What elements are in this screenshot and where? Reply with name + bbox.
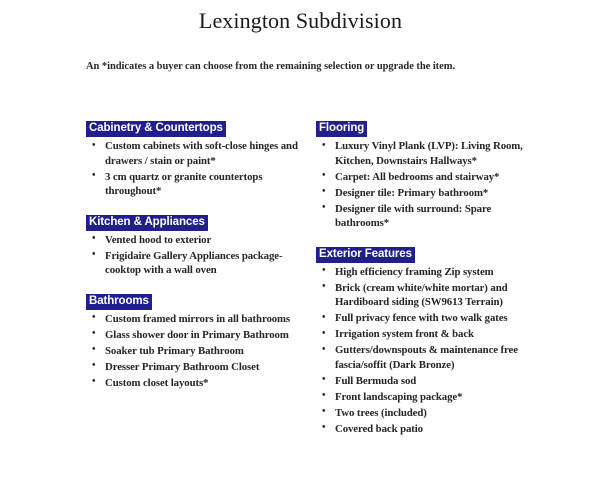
feature-list-cabinetry-countertops: Custom cabinets with soft-close hinges a… <box>86 139 301 199</box>
list-item: Front landscaping package* <box>316 390 531 405</box>
section-heading-bathrooms: Bathrooms <box>86 294 152 310</box>
page-title: Lexington Subdivision <box>0 8 601 34</box>
section-heading-exterior-features: Exterior Features <box>316 247 415 263</box>
section-bathrooms: BathroomsCustom framed mirrors in all ba… <box>86 291 301 391</box>
feature-list-flooring: Luxury Vinyl Plank (LVP): Living Room, K… <box>316 139 531 231</box>
section-heading-cabinetry-countertops: Cabinetry & Countertops <box>86 121 226 137</box>
list-item: Custom cabinets with soft-close hinges a… <box>86 139 301 168</box>
section-kitchen-appliances: Kitchen & AppliancesVented hood to exter… <box>86 212 301 278</box>
section-cabinetry-countertops: Cabinetry & CountertopsCustom cabinets w… <box>86 118 301 199</box>
left-column: Cabinetry & CountertopsCustom cabinets w… <box>86 118 301 392</box>
list-item: Frigidaire Gallery Appliances package-co… <box>86 249 301 278</box>
list-item: 3 cm quartz or granite countertops throu… <box>86 170 301 199</box>
list-item: Designer tile with surround: Spare bathr… <box>316 202 531 231</box>
list-item: Vented hood to exterior <box>86 233 301 248</box>
list-item: Two trees (included) <box>316 406 531 421</box>
section-flooring: FlooringLuxury Vinyl Plank (LVP): Living… <box>316 118 531 231</box>
list-item: Brick (cream white/white mortar) and Har… <box>316 281 531 310</box>
section-exterior-features: Exterior FeaturesHigh efficiency framing… <box>316 244 531 437</box>
section-heading-kitchen-appliances: Kitchen & Appliances <box>86 215 208 231</box>
list-item: Irrigation system front & back <box>316 327 531 342</box>
list-item: High efficiency framing Zip system <box>316 265 531 280</box>
list-item: Glass shower door in Primary Bathroom <box>86 328 301 343</box>
list-item: Covered back patio <box>316 422 531 437</box>
list-item: Full privacy fence with two walk gates <box>316 311 531 326</box>
list-item: Dresser Primary Bathroom Closet <box>86 360 301 375</box>
list-item: Carpet: All bedrooms and stairway* <box>316 170 531 185</box>
feature-list-exterior-features: High efficiency framing Zip systemBrick … <box>316 265 531 437</box>
list-item: Full Bermuda sod <box>316 374 531 389</box>
asterisk-legend-note: An *indicates a buyer can choose from th… <box>86 60 556 74</box>
feature-list-kitchen-appliances: Vented hood to exteriorFrigidaire Galler… <box>86 233 301 278</box>
list-item: Designer tile: Primary bathroom* <box>316 186 531 201</box>
list-item: Gutters/downspouts & maintenance free fa… <box>316 343 531 372</box>
section-heading-flooring: Flooring <box>316 121 367 137</box>
list-item: Soaker tub Primary Bathroom <box>86 344 301 359</box>
list-item: Custom framed mirrors in all bathrooms <box>86 312 301 327</box>
feature-list-bathrooms: Custom framed mirrors in all bathroomsGl… <box>86 312 301 391</box>
right-column: FlooringLuxury Vinyl Plank (LVP): Living… <box>316 118 531 438</box>
list-item: Custom closet layouts* <box>86 376 301 391</box>
document-page: Lexington Subdivision An *indicates a bu… <box>0 0 601 480</box>
list-item: Luxury Vinyl Plank (LVP): Living Room, K… <box>316 139 531 168</box>
